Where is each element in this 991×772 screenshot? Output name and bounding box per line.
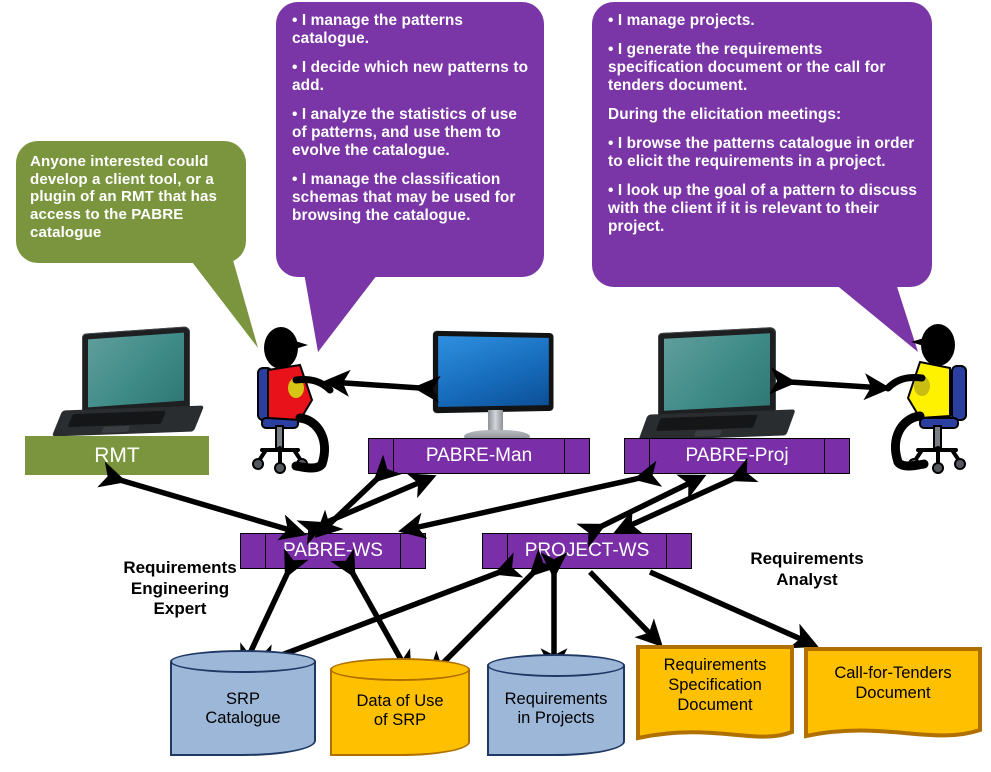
- component-pabre-proj[interactable]: PABRE-Proj: [624, 438, 850, 474]
- component-pabre-man-label: PABRE-Man: [394, 438, 564, 474]
- arrow-pabre-ws-to-pabre-man: [320, 478, 430, 525]
- datastore-call-for-tenders-document-label: Call-for-Tenders Document: [803, 664, 983, 704]
- laptop-screen: [88, 333, 184, 408]
- actor-requirements-analyst: [888, 324, 966, 473]
- label-line-2: in Projects: [487, 709, 625, 728]
- role-left-line-3: Expert: [85, 599, 275, 620]
- role-right-line-2: Analyst: [712, 570, 902, 591]
- role-left-line-1: Requirements: [85, 558, 275, 579]
- arrow-pabre-proj-to-pabre-ws: [405, 478, 640, 530]
- laptop-rmt-icon: [52, 330, 202, 440]
- component-left-tab: [624, 438, 650, 474]
- bubble-analyst-line-4: • I browse the patterns catalogue in ord…: [608, 135, 918, 171]
- bubble-analyst-line-2: • I generate the requirements specificat…: [608, 41, 918, 95]
- arrow-pabre-man-to-pabre-ws: [320, 478, 378, 533]
- arrow-pabre-proj-to-project-ws: [620, 478, 735, 530]
- laptop-keyboard: [656, 415, 758, 431]
- office-chair-right: [909, 366, 966, 473]
- component-left-tab: [482, 533, 508, 569]
- arrow-analyst-to-laptop: [790, 382, 884, 388]
- diagram-canvas: • I manage the patterns catalogue. • I d…: [0, 0, 991, 772]
- speech-bubble-analyst: • I manage projects. • I generate the re…: [592, 2, 932, 287]
- datastore-requirements-specification-document[interactable]: Requirements Specification Document: [635, 644, 795, 750]
- laptop-lid: [658, 327, 776, 419]
- laptop-base: [638, 409, 795, 440]
- label-line-2: of SRP: [330, 711, 470, 730]
- monitor-screen: [438, 336, 549, 407]
- component-left-tab: [368, 438, 394, 474]
- bubble-analyst-line-5: • I look up the goal of a pattern to dis…: [608, 182, 918, 236]
- component-pabre-man[interactable]: PABRE-Man: [368, 438, 590, 474]
- monitor-frame: [433, 331, 554, 413]
- laptop-touchpad: [101, 426, 130, 433]
- component-project-ws[interactable]: PROJECT-WS: [482, 533, 692, 569]
- arrow-expert-to-monitor: [330, 382, 420, 388]
- bubble-analyst-line-3: During the elicitation meetings:: [608, 106, 918, 124]
- component-rmt-label: RMT: [94, 444, 140, 468]
- label-line-1: SRP: [170, 690, 316, 709]
- bubble-manager-line-2: • I decide which new patterns to add.: [292, 59, 530, 95]
- arrow-pabre-ws-to-data-of-use: [352, 572, 408, 672]
- component-right-tab: [824, 438, 850, 474]
- component-right-tab: [666, 533, 692, 569]
- office-chair-left: [253, 368, 307, 473]
- label-line-2: Specification: [635, 676, 795, 696]
- label-line-1: Requirements: [635, 656, 795, 676]
- label-line-1: Requirements: [487, 690, 625, 709]
- cylinder-top: [487, 654, 625, 677]
- component-pabre-ws-label: PABRE-WS: [266, 533, 400, 569]
- monitor-pabre-man-icon: [428, 332, 563, 444]
- role-label-requirements-analyst: Requirements Analyst: [712, 549, 902, 590]
- datastore-call-for-tenders-document[interactable]: Call-for-Tenders Document: [803, 646, 983, 752]
- datastore-data-of-use-of-srp-label: Data of Use of SRP: [330, 692, 470, 731]
- role-left-line-2: Engineering: [85, 579, 275, 600]
- label-line-3: Document: [635, 696, 795, 716]
- component-right-tab: [564, 438, 590, 474]
- speech-bubble-manager: • I manage the patterns catalogue. • I d…: [276, 2, 544, 277]
- laptop-base: [52, 406, 204, 437]
- datastore-requirements-specification-document-label: Requirements Specification Document: [635, 656, 795, 715]
- component-rmt[interactable]: RMT: [25, 436, 209, 475]
- datastore-data-of-use-of-srp[interactable]: Data of Use of SRP: [330, 658, 470, 756]
- laptop-lid: [82, 326, 190, 416]
- bubble-analyst-line-1: • I manage projects.: [608, 12, 918, 30]
- bubble-manager-line-4: • I manage the classification schemas th…: [292, 171, 530, 225]
- datastore-requirements-in-projects-label: Requirements in Projects: [487, 690, 625, 729]
- label-line-1: Data of Use: [330, 692, 470, 711]
- datastore-srp-catalogue-label: SRP Catalogue: [170, 690, 316, 729]
- bubble-developer-line-1: Anyone interested could develop a client…: [30, 153, 234, 241]
- actor-requirements-engineering-expert: [253, 327, 330, 473]
- cylinder-top: [330, 658, 470, 681]
- role-right-line-1: Requirements: [712, 549, 902, 570]
- laptop-keyboard: [68, 411, 167, 427]
- datastore-requirements-in-projects[interactable]: Requirements in Projects: [487, 654, 625, 756]
- component-project-ws-label: PROJECT-WS: [508, 533, 666, 569]
- arrow-project-ws-to-pabre-proj: [600, 478, 700, 527]
- bubble-manager-line-3: • I analyze the statistics of use of pat…: [292, 106, 530, 160]
- arrow-rmt-to-pabre-ws: [120, 480, 300, 533]
- label-line-1: Call-for-Tenders: [803, 664, 983, 684]
- datastore-srp-catalogue[interactable]: SRP Catalogue: [170, 650, 316, 756]
- component-right-tab: [400, 533, 426, 569]
- laptop-screen: [664, 333, 770, 411]
- laptop-touchpad: [694, 430, 723, 437]
- component-pabre-proj-label: PABRE-Proj: [650, 438, 824, 474]
- role-label-requirements-engineering-expert: Requirements Engineering Expert: [85, 558, 275, 620]
- bubble-manager-line-1: • I manage the patterns catalogue.: [292, 12, 530, 48]
- speech-bubble-developer: Anyone interested could develop a client…: [16, 141, 246, 263]
- label-line-2: Catalogue: [170, 709, 316, 728]
- cylinder-top: [170, 650, 316, 673]
- label-line-2: Document: [803, 684, 983, 704]
- arrow-project-ws-to-requirements-spec-doc: [590, 572, 658, 642]
- laptop-pabre-proj-icon: [636, 330, 796, 442]
